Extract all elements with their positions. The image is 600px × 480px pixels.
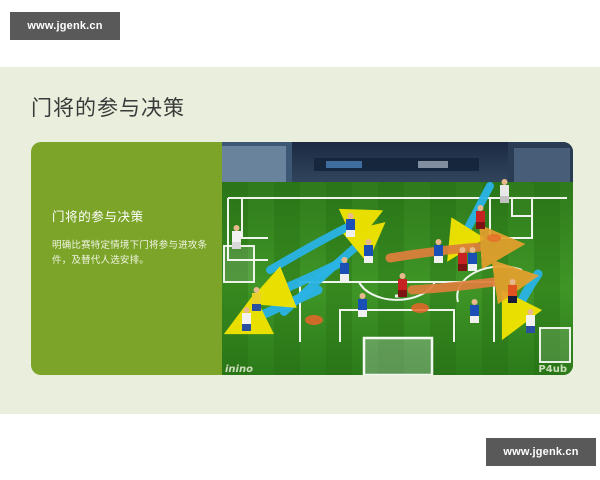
text-panel: 门将的参与决策 明确比赛特定情境下门将参与进攻条件，及替代人选安排。	[31, 142, 231, 375]
panel-heading: 门将的参与决策	[52, 208, 213, 226]
photo-caption-left: inino	[225, 364, 253, 375]
watermark-bottom: www.jgenk.cn	[486, 438, 596, 466]
slide-canvas: 门将的参与决策 门将的参与决策 明确比赛特定情境下门将参与进攻条件，及替代人选安…	[0, 67, 600, 414]
football-tactics-image: inino P4ub	[222, 142, 573, 375]
football-pitch-illustration	[222, 142, 573, 375]
panel-body-text: 明确比赛特定情境下门将参与进攻条件，及替代人选安排。	[52, 238, 213, 268]
watermark-top: www.jgenk.cn	[10, 12, 120, 40]
page-title: 门将的参与决策	[31, 94, 185, 122]
photo-caption-right: P4ub	[538, 364, 567, 375]
